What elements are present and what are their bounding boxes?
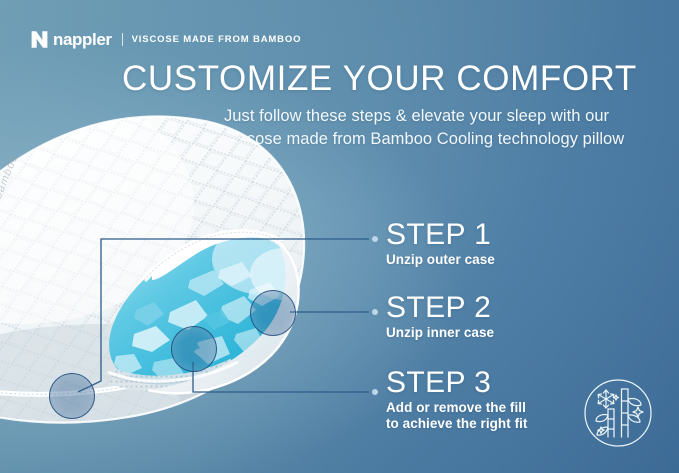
hotspot-inner-case-zipper[interactable] — [250, 290, 296, 336]
step-3-description: Add or remove the fill to achieve the ri… — [386, 400, 527, 432]
brand-name: nappler — [53, 30, 112, 49]
step-3-description-line-2: to achieve the right fit — [386, 416, 527, 432]
step-1: STEP 1 Unzip outer case — [386, 218, 495, 268]
infographic-canvas: nappler VISCOSE MADE FROM BAMBOO CUSTOMI… — [0, 0, 679, 473]
step-3-description-line-1: Add or remove the fill — [386, 400, 527, 416]
brand-tagline: VISCOSE MADE FROM BAMBOO — [132, 30, 302, 49]
step-1-title: STEP 1 — [386, 218, 495, 251]
brand-header: nappler VISCOSE MADE FROM BAMBOO — [30, 29, 301, 49]
step-marker-dot-1 — [372, 236, 378, 242]
step-3: STEP 3 Add or remove the fill to achieve… — [386, 366, 527, 432]
header-divider — [122, 33, 123, 46]
bamboo-cooling-badge-icon — [576, 371, 660, 455]
step-2-title: STEP 2 — [386, 291, 494, 324]
step-1-description: Unzip outer case — [386, 252, 495, 268]
step-2: STEP 2 Unzip inner case — [386, 291, 494, 341]
step-marker-dot-3 — [372, 389, 378, 395]
hotspot-outer-case-zipper[interactable] — [49, 373, 95, 419]
hotspot-shredded-foam-fill[interactable] — [171, 326, 217, 372]
step-3-title: STEP 3 — [386, 366, 527, 399]
step-2-description: Unzip inner case — [386, 325, 494, 341]
nappler-n-mark-icon — [30, 30, 49, 49]
step-marker-dot-2 — [372, 309, 378, 315]
